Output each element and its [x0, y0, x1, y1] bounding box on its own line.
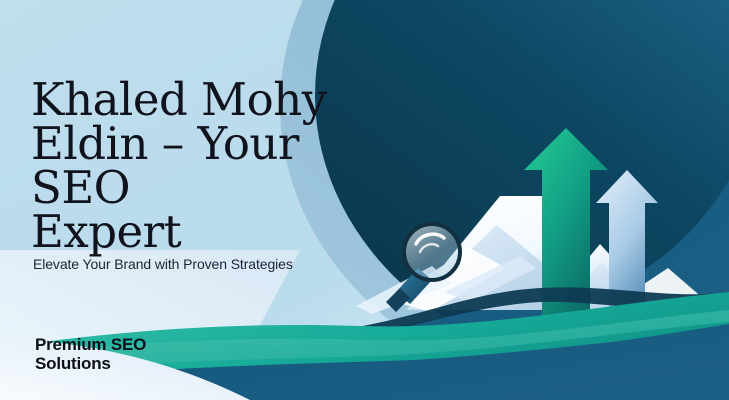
brand-logo-text: Premium SEO Solutions [35, 335, 146, 373]
seo-promo-banner: Khaled Mohy Eldin – Your SEO Expert Elev… [0, 0, 729, 400]
text-layer: Khaled Mohy Eldin – Your SEO Expert Elev… [0, 0, 729, 400]
tagline: Elevate Your Brand with Proven Strategie… [33, 256, 293, 272]
page-title: Khaled Mohy Eldin – Your SEO Expert [31, 78, 391, 254]
